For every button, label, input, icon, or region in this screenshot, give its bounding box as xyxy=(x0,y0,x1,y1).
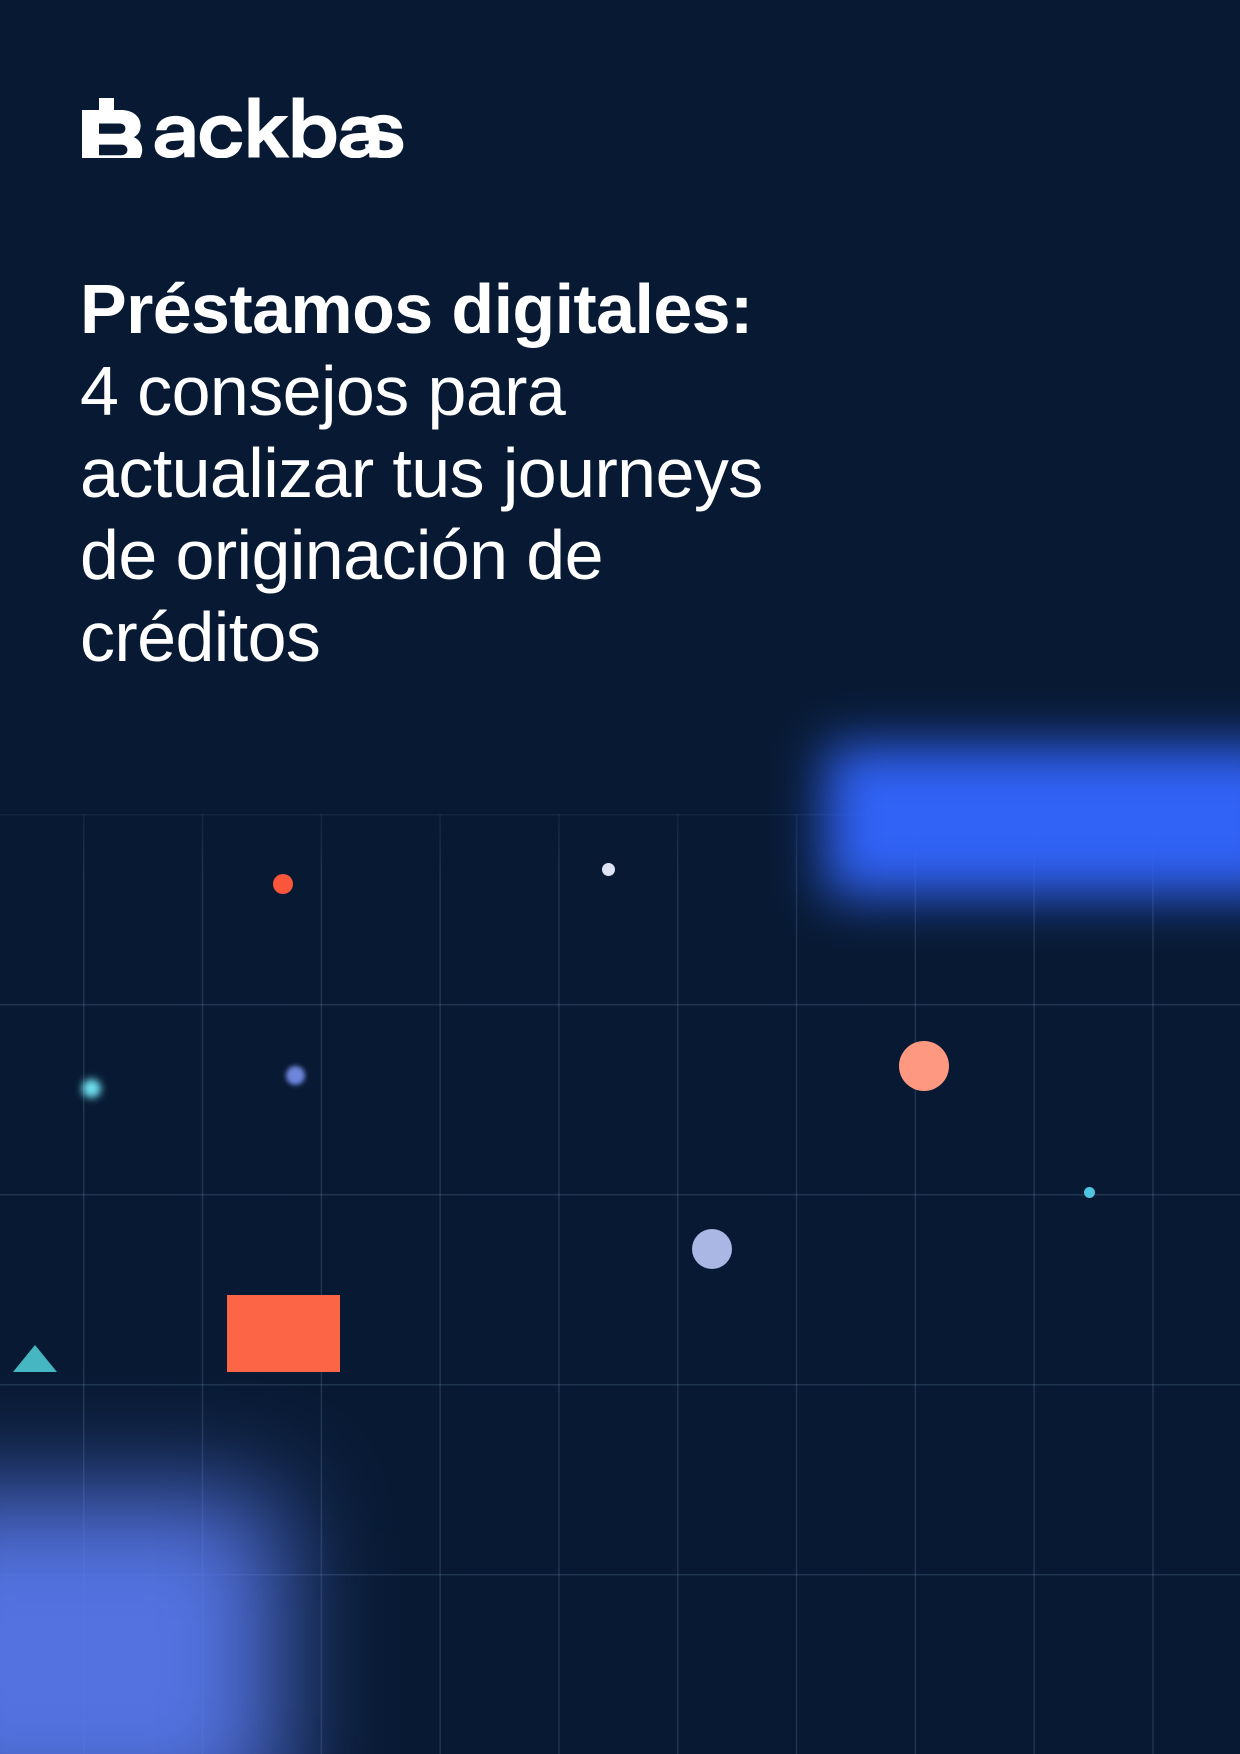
grid-top-fade xyxy=(0,760,1240,880)
periwinkle-small-dot-decoration xyxy=(286,1066,305,1085)
headline-body: 4 consejos para actualizar tus journeys … xyxy=(80,350,840,678)
background-grid xyxy=(0,814,1240,1754)
cyan-glow-dot-decoration xyxy=(82,1079,101,1098)
blue-rect-top-decoration xyxy=(826,746,1240,896)
headline-emphasis: Préstamos digitales: xyxy=(80,268,840,350)
page-title: Préstamos digitales: 4 consejos para act… xyxy=(80,268,840,678)
periwinkle-circle-decoration xyxy=(692,1229,732,1269)
blue-blob-bottom-decoration xyxy=(0,1494,280,1754)
cover-content: Préstamos digitales: 4 consejos para act… xyxy=(80,0,840,678)
white-dot-decoration xyxy=(602,863,615,876)
orange-rectangle-decoration xyxy=(227,1295,340,1372)
red-dot-decoration xyxy=(273,874,293,894)
cyan-tiny-dot-decoration xyxy=(1084,1187,1095,1198)
salmon-circle-decoration xyxy=(899,1041,949,1091)
teal-triangle-decoration xyxy=(13,1345,57,1372)
cover-page: Préstamos digitales: 4 consejos para act… xyxy=(0,0,1240,1754)
backbase-logo xyxy=(80,96,410,158)
